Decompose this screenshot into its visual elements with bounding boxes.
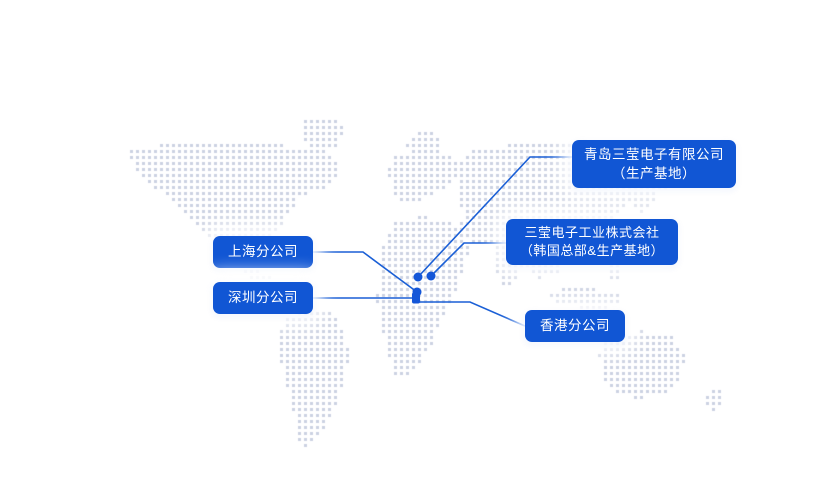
label-hongkong-branch[interactable]: 香港分公司 — [525, 310, 625, 342]
label-shenzhen-branch[interactable]: 深圳分公司 — [213, 282, 313, 314]
connector-shanghai — [313, 252, 417, 292]
label-qingdao-text: 青岛三莹电子有限公司 （生产基地） — [584, 145, 724, 183]
label-shanghai-branch[interactable]: 上海分公司 — [213, 236, 313, 268]
label-shanghai-branch-text: 上海分公司 — [228, 242, 298, 261]
label-shenzhen-branch-text: 深圳分公司 — [228, 288, 298, 307]
map-marker-qingdao[interactable] — [414, 273, 423, 282]
label-hongkong-branch-text: 香港分公司 — [540, 316, 610, 335]
connector-lines — [0, 0, 824, 480]
connector-korea — [431, 243, 506, 276]
map-marker-shenzhen[interactable] — [412, 293, 420, 304]
label-korea-hq[interactable]: 三莹电子工业株式会社 （韩国总部&生产基地） — [506, 219, 678, 265]
map-marker-korea[interactable] — [427, 272, 436, 281]
map-stage: 青岛三莹电子有限公司 （生产基地）三莹电子工业株式会社 （韩国总部&生产基地）上… — [0, 0, 824, 480]
label-korea-hq-text: 三莹电子工业株式会社 （韩国总部&生产基地） — [520, 224, 664, 261]
connector-hongkong — [416, 302, 525, 326]
label-qingdao[interactable]: 青岛三莹电子有限公司 （生产基地） — [572, 140, 736, 188]
